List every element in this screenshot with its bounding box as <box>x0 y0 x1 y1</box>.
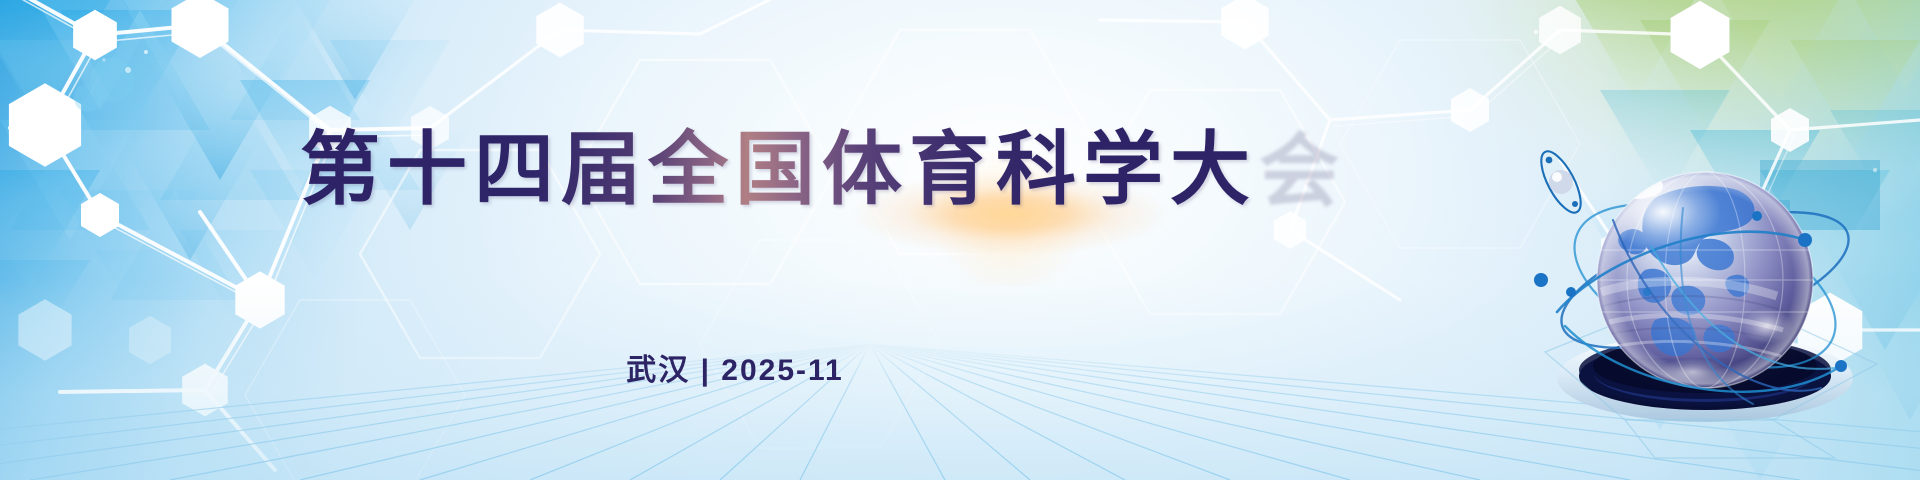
globe-illustration <box>1505 120 1920 480</box>
page-title: 第十四届全国体育科学大会 <box>300 122 1250 218</box>
atom-icon <box>1534 146 1589 218</box>
event-subtitle: 武汉 | 2025-11 <box>0 352 1470 390</box>
conference-banner: 第十四届全国体育科学大会 第十四届全国体育科学大会 武汉 | 2025-11 <box>0 0 1920 480</box>
globe-svg <box>1505 120 1920 480</box>
